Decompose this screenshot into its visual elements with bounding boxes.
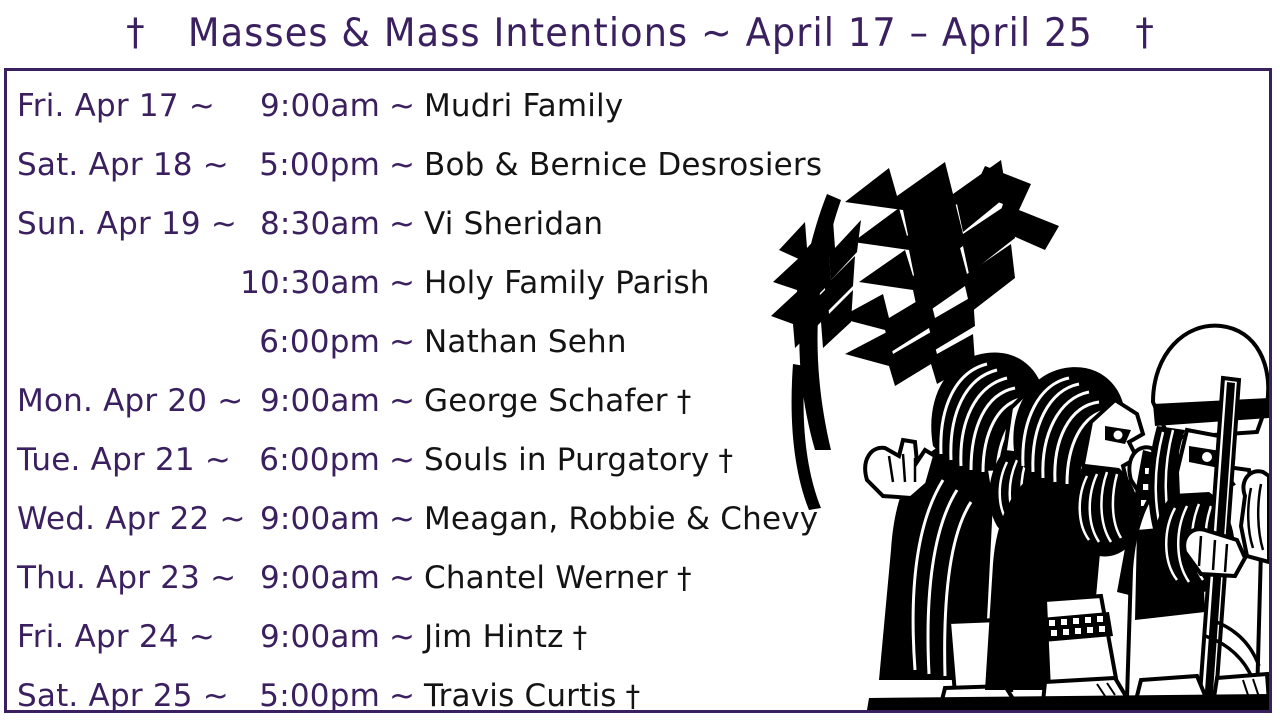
list-item: Sun. Apr 19 ~ 8:30am ~ Vi Sheridan [7,195,1269,254]
mass-day-date: Sat. Apr 18 ~ [7,136,212,195]
mass-separator: ~ [380,136,424,195]
mass-separator: ~ [380,667,424,713]
mass-separator: ~ [380,313,424,372]
list-item: 6:00pm ~ Nathan Sehn [7,313,1269,372]
mass-separator: ~ [380,608,424,667]
cross-icon-right: † [1121,11,1168,54]
mass-intention-name: Souls in Purgatory [424,431,710,490]
mass-intention-name: George Schafer [424,372,668,431]
list-item: Sat. Apr 25 ~ 5:00pm ~ Travis Curtis † [7,667,1269,713]
mass-time: 5:00pm [212,136,380,195]
mass-time: 9:00am [212,549,380,608]
mass-schedule-list: Fri. Apr 17 ~ 9:00am ~ Mudri Family Sat.… [7,77,1269,713]
mass-time: 6:00pm [212,431,380,490]
deceased-cross-icon: † [564,608,588,667]
mass-separator: ~ [380,254,424,313]
page-title: † Masses & Mass Intentions ~ April 17 – … [0,0,1280,66]
deceased-cross-icon: † [710,431,734,490]
list-item: Wed. Apr 22 ~ 9:00am ~ Meagan, Robbie & … [7,490,1269,549]
mass-time: 9:00am [212,77,380,136]
mass-separator: ~ [380,77,424,136]
mass-time: 9:00am [212,608,380,667]
mass-separator: ~ [380,431,424,490]
mass-day-date: Mon. Apr 20 ~ [7,372,212,431]
mass-time: 9:00am [212,372,380,431]
mass-separator: ~ [380,372,424,431]
mass-day-date: Wed. Apr 22 ~ [7,490,212,549]
deceased-cross-icon: † [668,372,692,431]
mass-intention-name: Travis Curtis [424,667,617,713]
mass-day-date: Sat. Apr 25 ~ [7,667,212,713]
deceased-cross-icon: † [668,549,692,608]
mass-separator: ~ [380,549,424,608]
mass-time: 8:30am [212,195,380,254]
deceased-cross-icon: † [617,667,641,713]
mass-intention-name: Nathan Sehn [424,313,627,372]
cross-icon-left: † [112,11,159,54]
list-item: Fri. Apr 24 ~ 9:00am ~ Jim Hintz † [7,608,1269,667]
list-item: Tue. Apr 21 ~ 6:00pm ~ Souls in Purgator… [7,431,1269,490]
mass-intention-name: Mudri Family [424,77,623,136]
list-item: Fri. Apr 17 ~ 9:00am ~ Mudri Family [7,77,1269,136]
mass-day-date: Sun. Apr 19 ~ [7,195,212,254]
mass-intention-name: Meagan, Robbie & Chevy [424,490,818,549]
mass-time: 5:00pm [212,667,380,713]
page-title-text: Masses & Mass Intentions ~ April 17 – Ap… [187,14,1092,53]
mass-separator: ~ [380,195,424,254]
list-item: Thu. Apr 23 ~ 9:00am ~ Chantel Werner † [7,549,1269,608]
list-item: 10:30am ~ Holy Family Parish [7,254,1269,313]
mass-day-date: Fri. Apr 24 ~ [7,608,212,667]
schedule-panel: Fri. Apr 17 ~ 9:00am ~ Mudri Family Sat.… [4,68,1272,713]
mass-separator: ~ [380,490,424,549]
mass-intention-name: Vi Sheridan [424,195,603,254]
slide-canvas: † Masses & Mass Intentions ~ April 17 – … [0,0,1280,720]
mass-day-date: Fri. Apr 17 ~ [7,77,212,136]
mass-day-date: Thu. Apr 23 ~ [7,549,212,608]
list-item: Mon. Apr 20 ~ 9:00am ~ George Schafer † [7,372,1269,431]
mass-intention-name: Holy Family Parish [424,254,710,313]
mass-intention-name: Bob & Bernice Desrosiers [424,136,822,195]
mass-intention-name: Jim Hintz [424,608,564,667]
mass-time: 9:00am [212,490,380,549]
mass-intention-name: Chantel Werner [424,549,668,608]
mass-day-date: Tue. Apr 21 ~ [7,431,212,490]
list-item: Sat. Apr 18 ~ 5:00pm ~ Bob & Bernice Des… [7,136,1269,195]
mass-time: 10:30am [212,254,380,313]
mass-time: 6:00pm [212,313,380,372]
